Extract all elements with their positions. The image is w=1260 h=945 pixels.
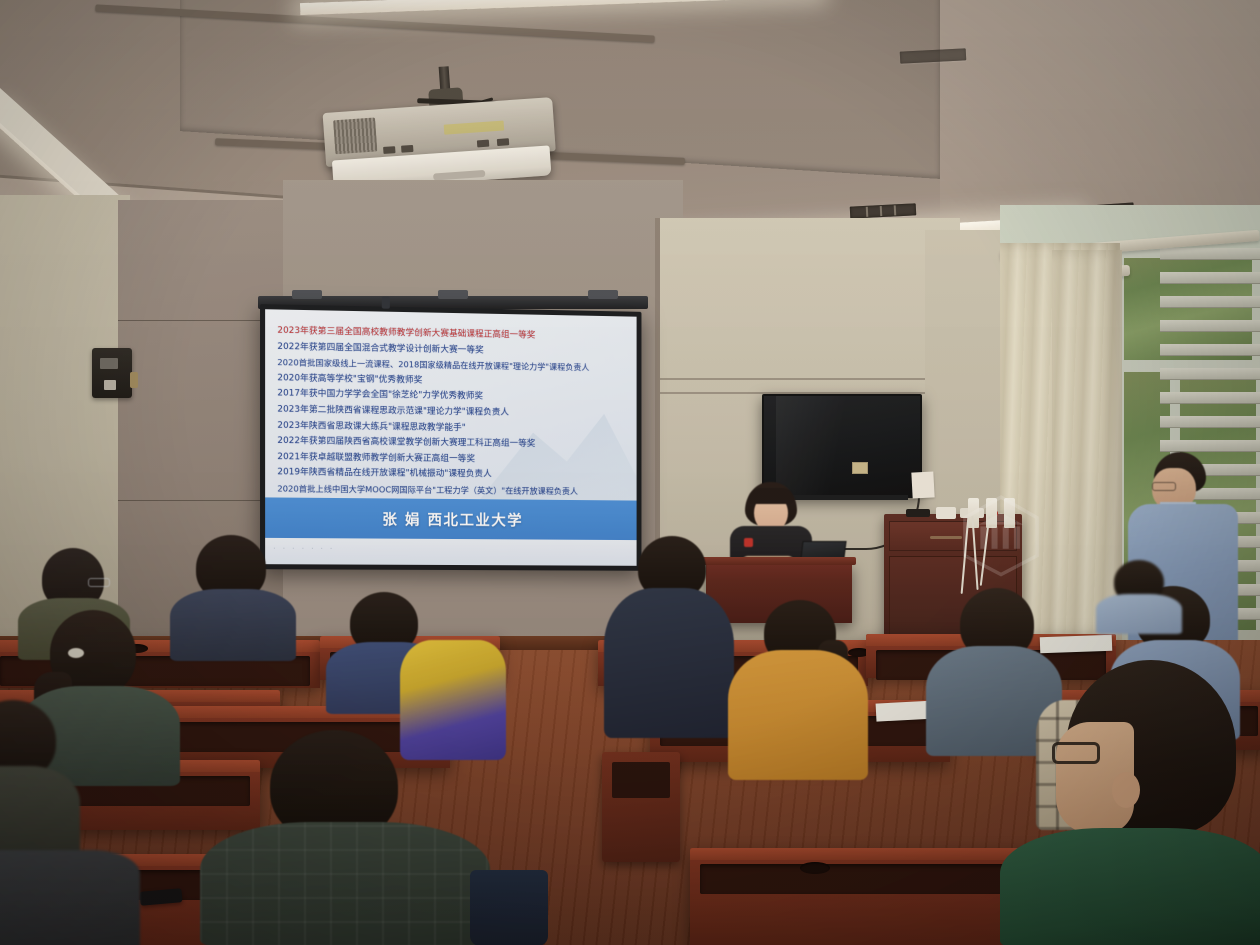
audience-torso — [0, 766, 80, 862]
slide-footer: · · · · · · · — [265, 538, 636, 566]
lecture-hall-photo: 2023年获第三届全国高校教师教学创新大赛基础课程正高组一等奖 2022年获第四… — [0, 0, 1260, 945]
bag-under-desk — [470, 870, 548, 945]
bottle-3 — [1004, 498, 1015, 528]
projection-screen: 2023年获第三届全国高校教师教学创新大赛基础课程正高组一等奖 2022年获第四… — [260, 304, 641, 571]
audience-glasses — [1052, 742, 1100, 764]
audience-torso — [604, 588, 734, 738]
projector-lens — [433, 170, 485, 181]
audience-member-13 — [1096, 560, 1182, 630]
cabinet-item-white-1 — [936, 507, 956, 519]
wall-door-handle[interactable] — [130, 372, 138, 388]
projector-vent-grill — [333, 117, 377, 154]
wall-posted-note — [911, 471, 934, 498]
audience-member-2 — [170, 535, 296, 660]
slide-speaker-name: 张 娟 西北工业大学 — [382, 508, 523, 530]
audience-torso — [170, 589, 296, 661]
screen-bracket-left — [292, 290, 322, 299]
screen-bracket-center — [438, 290, 468, 299]
projector-label — [444, 121, 505, 135]
audience-glasses — [88, 578, 110, 587]
wall-intercom-screen — [100, 358, 118, 369]
audience-torso — [200, 822, 490, 945]
cabinet-drawer-handle[interactable] — [930, 536, 962, 539]
audience-torso — [728, 650, 868, 780]
cabinet-cables — [960, 516, 1000, 596]
wall-intercom-button[interactable] — [104, 380, 116, 390]
audience-ear — [1112, 772, 1140, 808]
audience-member-15 — [0, 850, 140, 945]
audience-member-7 — [604, 536, 734, 736]
slide-speaker-banner: 张 娟 西北工业大学 — [265, 497, 636, 540]
wall-outlet[interactable] — [852, 462, 868, 474]
projector-port-4 — [497, 138, 509, 146]
audience-torso — [0, 850, 140, 945]
audience-member-14 — [0, 700, 80, 860]
wall-right-seam-1 — [660, 378, 960, 380]
audience-torso — [1096, 594, 1182, 634]
projector-port-2 — [401, 145, 413, 153]
presenter-fringe — [748, 488, 794, 504]
audience-member-6 — [200, 730, 490, 945]
audience-hair-tie — [68, 648, 84, 658]
projector-port-1 — [383, 146, 395, 154]
projector — [323, 97, 558, 191]
wall-intercom-panel[interactable] — [92, 348, 132, 398]
cabinet-item-dark — [906, 509, 930, 517]
standing-attendee-glasses — [1152, 482, 1176, 491]
tv-screen-reflection — [776, 396, 862, 496]
chair-aisle-right-2 — [612, 762, 670, 798]
screen-bracket-right — [588, 290, 618, 299]
screen-center-tab — [382, 297, 390, 309]
desk-cable-grommet-4 — [800, 862, 830, 874]
slide-surface: 2023年获第三届全国高校教师教学创新大赛基础课程正高组一等奖 2022年获第四… — [265, 309, 636, 566]
audience-member-8 — [728, 600, 868, 780]
presenter-badge — [744, 538, 753, 547]
projector-port-3 — [477, 140, 489, 148]
audience-torso — [1000, 828, 1260, 945]
audience-member-10 — [1000, 660, 1260, 945]
